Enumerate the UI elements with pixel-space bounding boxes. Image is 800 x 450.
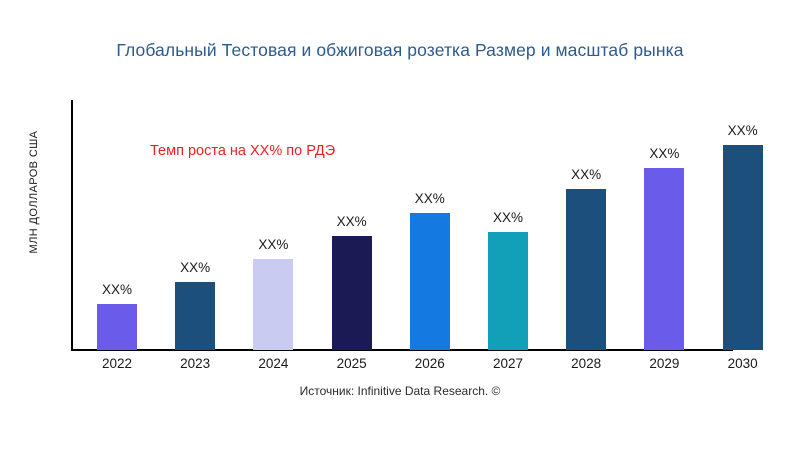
bar-value-label-2025: XX%	[312, 214, 392, 229]
x-tick-label-2023: 2023	[155, 356, 235, 371]
x-tick-label-2028: 2028	[546, 356, 626, 371]
bar-value-label-2027: XX%	[468, 210, 548, 225]
bar-2030[interactable]	[723, 145, 763, 350]
x-tick-label-2026: 2026	[390, 356, 470, 371]
bar-2025[interactable]	[332, 236, 372, 350]
bar-2023[interactable]	[175, 282, 215, 350]
x-tick-label-2025: 2025	[312, 356, 392, 371]
x-tick-label-2031: 2031	[781, 356, 800, 371]
bar-value-label-2023: XX%	[155, 260, 235, 275]
bar-2029[interactable]	[644, 168, 684, 350]
bar-2028[interactable]	[566, 189, 606, 350]
x-axis-line	[71, 349, 733, 351]
bar-2026[interactable]	[410, 213, 450, 350]
bar-value-label-2031: XX%	[781, 100, 800, 115]
bar-value-label-2026: XX%	[390, 191, 470, 206]
source-note: Источник: Infinitive Data Research. ©	[0, 384, 800, 398]
x-tick-label-2024: 2024	[233, 356, 313, 371]
bar-2027[interactable]	[488, 232, 528, 350]
bar-2024[interactable]	[253, 259, 293, 350]
y-axis-line	[71, 100, 73, 350]
bar-value-label-2029: XX%	[624, 146, 704, 161]
bar-2022[interactable]	[97, 304, 137, 350]
bar-value-label-2030: XX%	[703, 123, 783, 138]
x-tick-label-2029: 2029	[624, 356, 704, 371]
chart-container: Глобальный Тестовая и обжиговая розетка …	[0, 0, 800, 450]
plot-area: XX%2022XX%2023XX%2024XX%2025XX%2026XX%20…	[0, 0, 800, 450]
x-tick-label-2022: 2022	[77, 356, 157, 371]
bar-value-label-2022: XX%	[77, 282, 157, 297]
bar-value-label-2024: XX%	[233, 237, 313, 252]
bar-value-label-2028: XX%	[546, 167, 626, 182]
x-tick-label-2027: 2027	[468, 356, 548, 371]
x-tick-label-2030: 2030	[703, 356, 783, 371]
